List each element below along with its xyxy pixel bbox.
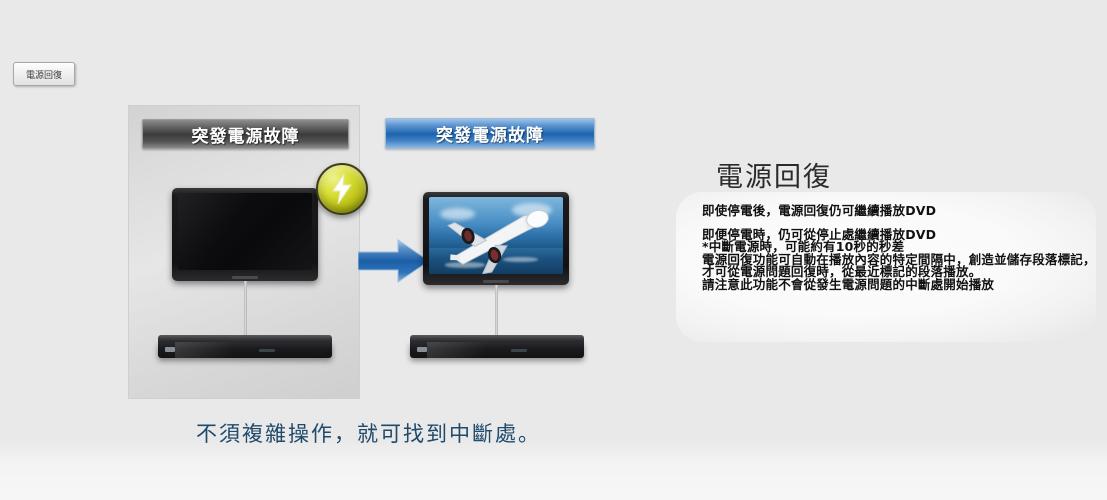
lightning-bolt-icon bbox=[316, 163, 368, 215]
player-right bbox=[410, 335, 584, 358]
tv-left-stand bbox=[244, 281, 247, 335]
player-right-face bbox=[410, 342, 584, 358]
tv-right-brand-logo bbox=[483, 280, 509, 283]
tv-right bbox=[423, 192, 569, 285]
tv-left-screen-off bbox=[178, 193, 312, 270]
slide-canvas: 電源回復 突發電源故障 bbox=[0, 0, 1107, 500]
tv-left-brand-logo bbox=[232, 276, 258, 279]
tv-left bbox=[172, 188, 318, 281]
description-heading: 電源回復 bbox=[716, 155, 832, 194]
player-left-face bbox=[158, 342, 332, 358]
right-panel-title-bar: 突發電源故障 bbox=[385, 118, 595, 149]
power-recovery-tab-label: 電源回復 bbox=[26, 68, 62, 81]
right-arrow-icon bbox=[358, 238, 430, 284]
player-left-logo bbox=[165, 347, 175, 352]
left-panel-title-bar: 突發電源故障 bbox=[142, 119, 349, 149]
power-recovery-tab[interactable]: 電源回復 bbox=[13, 62, 75, 86]
player-left-display bbox=[259, 349, 275, 352]
player-right-display bbox=[511, 349, 527, 352]
right-panel-title: 突發電源故障 bbox=[436, 121, 544, 146]
description-line-1: 即使停電後，電源回復仍可繼續播放DVD bbox=[702, 205, 1102, 218]
tv-right-screen-playing bbox=[429, 197, 563, 274]
bottom-caption: 不須複雜操作，就可找到中斷處。 bbox=[196, 418, 616, 448]
airplane-icon bbox=[429, 197, 563, 274]
description-line-4: 電源回復功能可自動在播放內容的特定間隔中，創造並儲存段落標記，才可從電源問題回復… bbox=[702, 254, 1102, 279]
tv-left-bezel bbox=[172, 188, 318, 281]
player-right-top bbox=[410, 335, 584, 342]
player-right-logo bbox=[417, 347, 427, 352]
player-left-top bbox=[158, 335, 332, 342]
tv-right-stand bbox=[495, 285, 498, 335]
player-left bbox=[158, 335, 332, 358]
description-line-5: 請注意此功能不會從發生電源問題的中斷處開始播放 bbox=[702, 279, 1102, 292]
tv-right-bezel bbox=[423, 192, 569, 285]
left-panel-title: 突發電源故障 bbox=[192, 122, 300, 147]
description-body: 即使停電後，電源回復仍可繼續播放DVD 即便停電時，仍可從停止處繼續播放DVD … bbox=[702, 205, 1102, 291]
